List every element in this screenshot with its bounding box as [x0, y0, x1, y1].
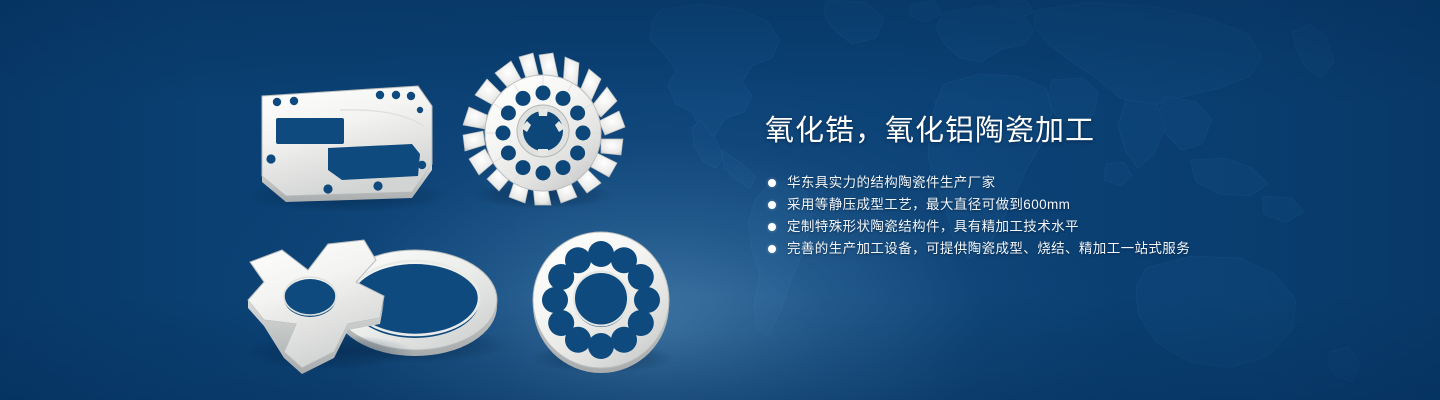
ceramic-hole-flange [530, 232, 674, 373]
promo-banner: 氧化锆，氧化铝陶瓷加工 华东具实力的结构陶瓷件生产厂家 采用等静压成型工艺，最大… [0, 0, 1440, 400]
list-item: 华东具实力的结构陶瓷件生产厂家 [765, 172, 1385, 194]
page-title: 氧化锆，氧化铝陶瓷加工 [765, 112, 1385, 150]
bullet-dot-icon [768, 201, 776, 209]
ceramic-machined-plate [248, 86, 448, 212]
list-item-label: 采用等静压成型工艺，最大直径可做到600mm [787, 197, 1070, 212]
bullet-dot-icon [768, 179, 776, 187]
ceramic-impeller-disc [463, 53, 625, 209]
list-item-label: 华东具实力的结构陶瓷件生产厂家 [787, 175, 996, 190]
product-photo-group [0, 0, 720, 400]
list-item-label: 完善的生产加工设备，可提供陶瓷成型、烧结、精加工一站式服务 [787, 241, 1190, 256]
bullet-dot-icon [768, 223, 776, 231]
banner-copy: 氧化锆，氧化铝陶瓷加工 华东具实力的结构陶瓷件生产厂家 采用等静压成型工艺，最大… [765, 112, 1385, 260]
bullet-dot-icon [768, 245, 776, 253]
list-item: 完善的生产加工设备，可提供陶瓷成型、烧结、精加工一站式服务 [765, 238, 1385, 260]
feature-list: 华东具实力的结构陶瓷件生产厂家 采用等静压成型工艺，最大直径可做到600mm 定… [765, 172, 1385, 260]
list-item-label: 定制特殊形状陶瓷结构件，具有精加工技术水平 [787, 219, 1079, 234]
list-item: 采用等静压成型工艺，最大直径可做到600mm [765, 194, 1385, 216]
list-item: 定制特殊形状陶瓷结构件，具有精加工技术水平 [765, 216, 1385, 238]
